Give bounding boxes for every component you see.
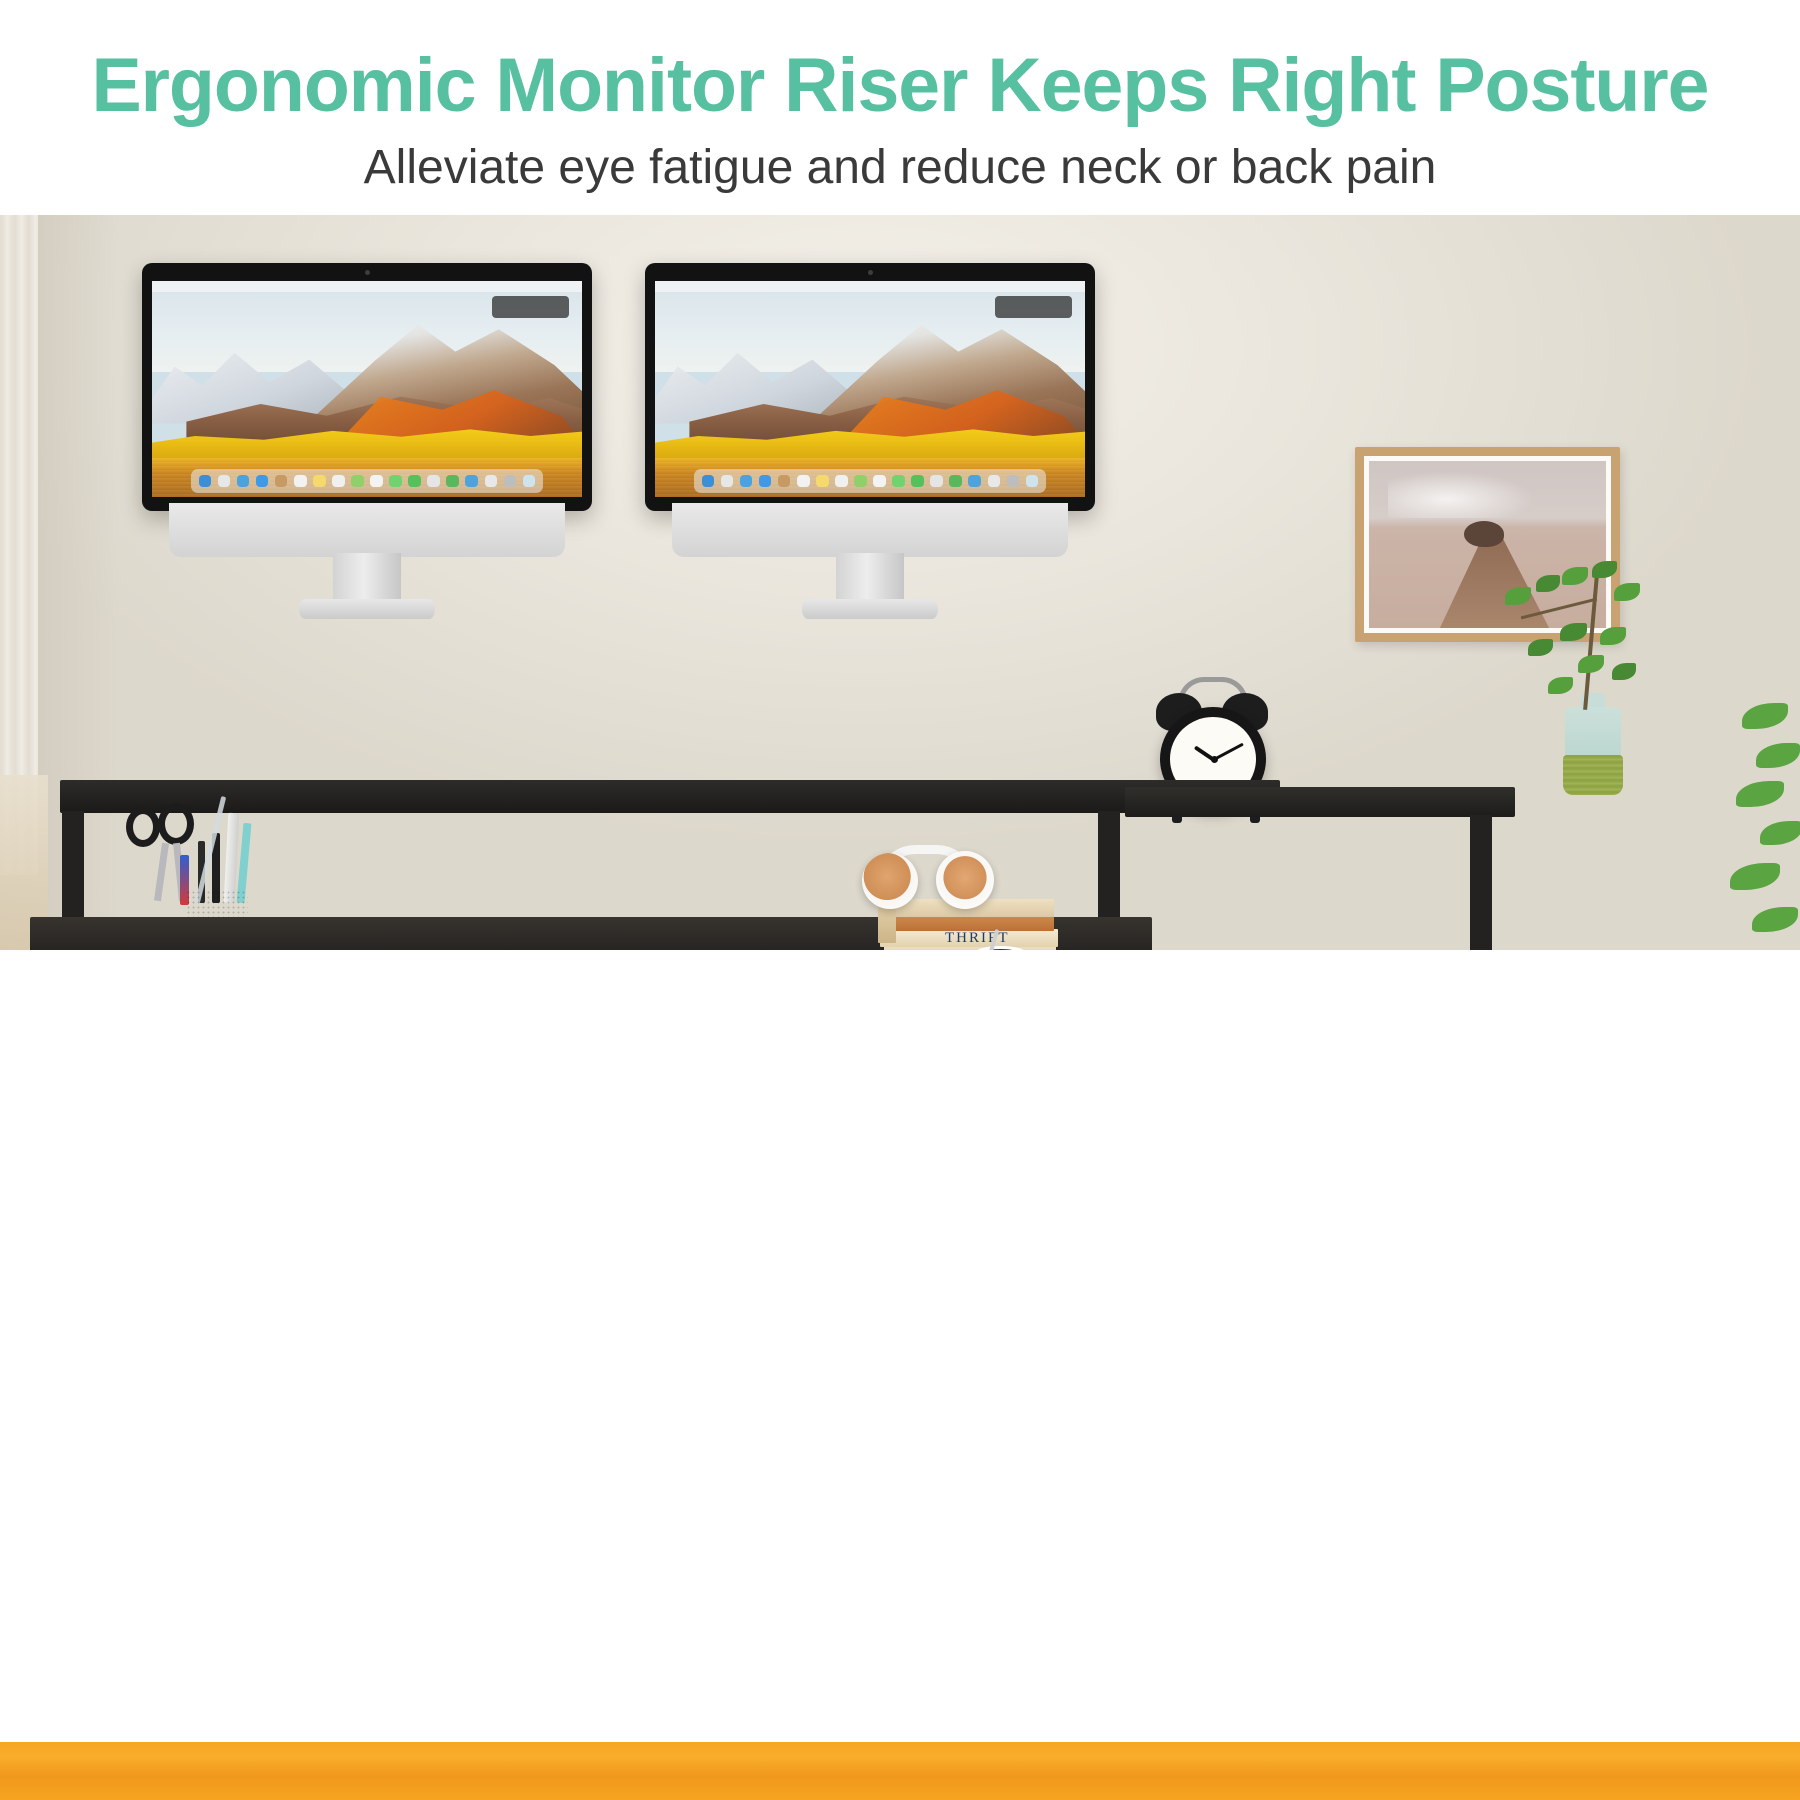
- scissors-ring: [158, 803, 194, 845]
- dock-icon-reminders[interactable]: [332, 475, 344, 487]
- book-middle: [888, 915, 1054, 931]
- webcam-icon: [868, 270, 873, 275]
- scissors-ring: [126, 807, 160, 847]
- monitor-screen: [655, 281, 1085, 497]
- dock-icon-preferences[interactable]: [504, 475, 516, 487]
- monitor-chin: [169, 503, 565, 557]
- dock[interactable]: [191, 469, 544, 493]
- dock-icon-trash[interactable]: [523, 475, 535, 487]
- monitor-chin: [672, 503, 1068, 557]
- dock-icon-messages[interactable]: [892, 475, 904, 487]
- product-photo: THRIFT EPSON: [0, 215, 1800, 950]
- header-banner: Ergonomic Monitor Riser Keeps Right Post…: [0, 0, 1800, 215]
- desktop-widget[interactable]: [995, 296, 1072, 318]
- headphone-earcup-left: [862, 853, 918, 909]
- dock-icon-safari[interactable]: [740, 475, 752, 487]
- riser-leg-right: [1470, 815, 1492, 950]
- dock-icon-facetime[interactable]: [911, 475, 923, 487]
- monitor-stand-foot: [802, 599, 938, 619]
- dock-icon-reminders[interactable]: [835, 475, 847, 487]
- menu-bar[interactable]: [655, 281, 1085, 292]
- webcam-icon: [365, 270, 370, 275]
- dock-icon-notes[interactable]: [816, 475, 828, 487]
- vase-woven-sleeve: [1563, 755, 1623, 795]
- dock-icon-keynote[interactable]: [968, 475, 980, 487]
- monitor-stand-neck: [333, 553, 401, 605]
- dock-icon-finder[interactable]: [702, 475, 714, 487]
- monitor-right: [645, 263, 1095, 511]
- dock-icon-numbers[interactable]: [949, 475, 961, 487]
- dock-icon-photos[interactable]: [370, 475, 382, 487]
- dock-icon-calendar[interactable]: [294, 475, 306, 487]
- monitor-screen: [152, 281, 582, 497]
- dock-icon-trash[interactable]: [1026, 475, 1038, 487]
- dock-icon-finder[interactable]: [199, 475, 211, 487]
- dock-icon-itunes[interactable]: [930, 475, 942, 487]
- dock-icon-appstore[interactable]: [988, 475, 1000, 487]
- dock-icon-keynote[interactable]: [465, 475, 477, 487]
- dock-icon-preferences[interactable]: [1007, 475, 1019, 487]
- monitor-stand-foot: [299, 599, 435, 619]
- riser-shelf-top-right: [1125, 787, 1515, 817]
- dock-icon-numbers[interactable]: [446, 475, 458, 487]
- dock-icon-photos[interactable]: [873, 475, 885, 487]
- riser-shelf-top: [60, 780, 1280, 813]
- riser-leg-left: [62, 811, 84, 931]
- wall-art-frame: [1355, 447, 1620, 642]
- riser-leg-middle: [1098, 811, 1120, 926]
- dock[interactable]: [694, 469, 1047, 493]
- monitor-left: [142, 263, 592, 511]
- art-rock: [1464, 521, 1504, 547]
- dock-icon-messages[interactable]: [389, 475, 401, 487]
- dock-icon-mail[interactable]: [759, 475, 771, 487]
- dock-icon-maps[interactable]: [351, 475, 363, 487]
- dock-icon-launchpad[interactable]: [218, 475, 230, 487]
- desktop-widget[interactable]: [492, 296, 569, 318]
- dock-icon-notes[interactable]: [313, 475, 325, 487]
- product-marketing-page: Ergonomic Monitor Riser Keeps Right Post…: [0, 0, 1800, 1800]
- clock-center-pin: [1211, 756, 1218, 763]
- dock-icon-launchpad[interactable]: [721, 475, 733, 487]
- dock-icon-maps[interactable]: [854, 475, 866, 487]
- desktop-wallpaper: [655, 281, 1085, 497]
- dock-icon-calendar[interactable]: [797, 475, 809, 487]
- page-subtitle: Alleviate eye fatigue and reduce neck or…: [0, 140, 1800, 195]
- dock-icon-facetime[interactable]: [408, 475, 420, 487]
- dock-icon-contacts[interactable]: [778, 475, 790, 487]
- dock-icon-contacts[interactable]: [275, 475, 287, 487]
- menu-bar[interactable]: [152, 281, 582, 292]
- dock-icon-itunes[interactable]: [427, 475, 439, 487]
- posture-comparison-illustration: [0, 950, 1800, 1800]
- monitor-stand-neck: [836, 553, 904, 605]
- page-title: Ergonomic Monitor Riser Keeps Right Post…: [9, 42, 1791, 129]
- art-mat: [1364, 456, 1611, 633]
- dock-icon-appstore[interactable]: [485, 475, 497, 487]
- art-clouds: [1388, 471, 1535, 518]
- desktop-wallpaper: [152, 281, 582, 497]
- dock-icon-safari[interactable]: [237, 475, 249, 487]
- dock-icon-mail[interactable]: [256, 475, 268, 487]
- floor-band: [0, 1742, 1800, 1800]
- book-title-label: THRIFT: [945, 930, 1010, 947]
- headphone-earcup-right: [936, 851, 994, 909]
